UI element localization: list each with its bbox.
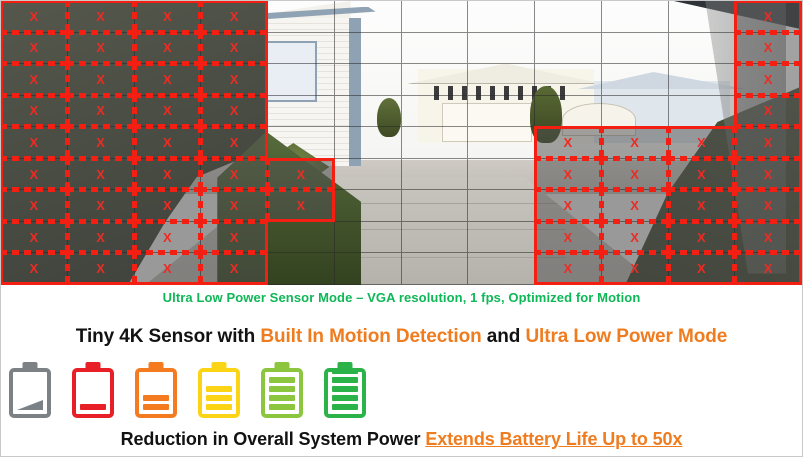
grid-cell-masked[interactable]: X — [535, 222, 602, 254]
mask-edge-l — [1, 189, 3, 222]
mask-edge-t — [67, 252, 135, 255]
mask-edge-l — [1, 126, 3, 159]
mask-edge-l — [534, 126, 537, 159]
mask-edge-t — [200, 126, 268, 129]
mask-edge-l — [734, 32, 737, 65]
grid-cell-masked[interactable]: X — [1, 96, 68, 128]
mask-edge-b — [601, 282, 669, 285]
grid-cell[interactable] — [402, 127, 469, 159]
mask-x-marker: X — [735, 64, 801, 95]
grid-cell-masked[interactable]: X — [602, 222, 669, 254]
grid-cell-masked[interactable]: X — [201, 222, 268, 254]
grid-cell-masked[interactable]: X — [602, 159, 669, 191]
battery-body — [324, 368, 366, 418]
mask-x-marker: X — [535, 253, 601, 284]
grid-cell-masked[interactable]: X — [1, 159, 68, 191]
mask-x-marker: X — [268, 159, 334, 190]
grid-cell[interactable] — [402, 96, 469, 128]
mask-x-marker: X — [68, 159, 134, 190]
headline-highlight-1: Built In Motion Detection — [260, 326, 481, 347]
grid-cell[interactable] — [468, 64, 535, 96]
grid-cell-masked[interactable]: X — [268, 190, 335, 222]
mask-edge-l — [1, 63, 3, 96]
mask-x-marker: X — [135, 253, 201, 284]
battery-medium-icon — [198, 362, 240, 418]
mask-edge-l — [134, 252, 137, 285]
battery-level-bar — [332, 377, 358, 383]
grid-cell-masked[interactable]: X — [135, 222, 202, 254]
mask-edge-t — [200, 1, 268, 3]
mask-edge-t — [1, 126, 68, 129]
mask-edge-l — [67, 63, 70, 96]
grid-cell-masked[interactable]: X — [669, 253, 736, 285]
battery-level-bar — [143, 395, 169, 401]
mask-x-marker: X — [735, 253, 801, 284]
mask-edge-l — [200, 126, 203, 159]
mask-x-marker: X — [735, 159, 801, 190]
mask-edge-l — [67, 126, 70, 159]
grid-cell[interactable] — [602, 1, 669, 33]
mask-edge-t — [601, 252, 669, 255]
mask-x-marker: X — [201, 253, 267, 284]
grid-cell-masked[interactable]: X — [135, 64, 202, 96]
battery-high-icon — [261, 362, 303, 418]
grid-cell-masked[interactable]: X — [735, 222, 802, 254]
grid-cell-masked[interactable]: X — [669, 159, 736, 191]
mask-edge-l — [668, 221, 671, 254]
mask-x-marker: X — [68, 190, 134, 221]
grid-cell[interactable] — [335, 159, 402, 191]
mask-edge-l — [134, 63, 137, 96]
mask-edge-b — [1, 282, 68, 285]
footer-statement: Reduction in Overall System Power Extend… — [1, 429, 802, 450]
mask-edge-l — [668, 252, 671, 285]
mask-x-marker: X — [201, 190, 267, 221]
mask-x-marker: X — [602, 127, 668, 158]
mask-edge-l — [734, 158, 737, 191]
grid-cell-masked[interactable]: X — [201, 253, 268, 285]
mask-x-marker: X — [735, 96, 801, 127]
mask-x-marker: X — [1, 222, 67, 253]
mask-x-marker: X — [1, 1, 67, 32]
grid-cell[interactable] — [602, 96, 669, 128]
mask-x-marker: X — [135, 159, 201, 190]
mask-edge-t — [67, 32, 135, 35]
mask-edge-t — [534, 158, 602, 161]
grid-cell-masked[interactable]: X — [68, 33, 135, 65]
grid-cell[interactable] — [335, 64, 402, 96]
mask-edge-t — [734, 32, 802, 35]
grid-cell-masked[interactable]: X — [68, 64, 135, 96]
grid-cell[interactable] — [468, 190, 535, 222]
battery-level-bar — [332, 404, 358, 410]
grid-cell[interactable] — [268, 253, 335, 285]
mask-edge-l — [67, 189, 70, 222]
grid-cell-masked[interactable]: X — [1, 253, 68, 285]
mask-edge-r — [799, 32, 802, 65]
mask-edge-l — [1, 221, 3, 254]
mask-x-marker: X — [735, 1, 801, 32]
mask-edge-t — [134, 158, 202, 161]
mask-edge-t — [1, 63, 68, 66]
grid-cell[interactable] — [335, 96, 402, 128]
grid-cell-masked[interactable]: X — [68, 1, 135, 33]
grid-cell-masked[interactable]: X — [1, 1, 68, 33]
battery-level-bar — [269, 377, 295, 383]
grid-cell[interactable] — [335, 190, 402, 222]
grid-cell[interactable] — [335, 1, 402, 33]
grid-cell-masked[interactable]: X — [68, 222, 135, 254]
mask-edge-l — [601, 252, 604, 285]
mask-x-marker: X — [68, 127, 134, 158]
battery-body — [9, 368, 51, 418]
grid-cell-masked[interactable]: X — [68, 159, 135, 191]
grid-cell-masked[interactable]: X — [201, 64, 268, 96]
mask-edge-t — [1, 32, 68, 35]
sensor-view: XXXXXXXXXXXXXXXXXXXXXXXXXXXXXXXXXXXXXXXX… — [1, 1, 802, 285]
grid-cell-masked[interactable]: X — [735, 1, 802, 33]
mask-edge-t — [668, 158, 736, 161]
battery-body — [198, 368, 240, 418]
grid-cell[interactable] — [468, 253, 535, 285]
mask-edge-t — [1, 1, 68, 3]
mask-edge-l — [1, 158, 3, 191]
grid-cell[interactable] — [468, 1, 535, 33]
grid-cell[interactable] — [402, 253, 469, 285]
grid-cell-masked[interactable]: X — [268, 159, 335, 191]
mask-edge-l — [668, 189, 671, 222]
mask-edge-l — [67, 252, 70, 285]
battery-empty-wedge — [17, 400, 43, 410]
grid-cell[interactable] — [335, 253, 402, 285]
grid-cell-masked[interactable]: X — [135, 190, 202, 222]
grid-cell-masked[interactable]: X — [201, 96, 268, 128]
mask-edge-r — [799, 63, 802, 96]
battery-low-icon — [135, 362, 177, 418]
mask-x-marker: X — [135, 222, 201, 253]
mask-edge-t — [668, 126, 736, 129]
mask-edge-t — [601, 221, 669, 224]
grid-cell[interactable] — [335, 33, 402, 65]
mask-edge-l — [734, 221, 737, 254]
slide-root: XXXXXXXXXXXXXXXXXXXXXXXXXXXXXXXXXXXXXXXX… — [0, 0, 803, 457]
mask-x-marker: X — [669, 190, 735, 221]
grid-cell-masked[interactable]: X — [135, 33, 202, 65]
grid-cell[interactable] — [335, 222, 402, 254]
mask-edge-l — [67, 158, 70, 191]
mask-edge-l — [134, 95, 137, 128]
mask-edge-l — [134, 1, 137, 33]
battery-level-bar — [80, 404, 106, 410]
mask-x-marker: X — [135, 96, 201, 127]
mask-edge-t — [134, 126, 202, 129]
mask-edge-r — [799, 95, 802, 128]
mask-x-marker: X — [135, 190, 201, 221]
grid-cell-masked[interactable]: X — [735, 190, 802, 222]
mask-x-marker: X — [68, 33, 134, 64]
grid-cell-masked[interactable]: X — [1, 64, 68, 96]
mask-edge-r — [799, 1, 802, 33]
mask-x-marker: X — [535, 190, 601, 221]
motion-detection-grid[interactable]: XXXXXXXXXXXXXXXXXXXXXXXXXXXXXXXXXXXXXXXX… — [1, 1, 802, 285]
mask-edge-l — [1, 252, 3, 285]
grid-cell[interactable] — [669, 1, 736, 33]
mask-edge-b — [734, 282, 802, 285]
battery-body — [72, 368, 114, 418]
mask-edge-l — [134, 189, 137, 222]
battery-level-bar — [332, 386, 358, 392]
mask-edge-l — [200, 158, 203, 191]
grid-cell-masked[interactable]: X — [68, 253, 135, 285]
grid-cell-masked[interactable]: X — [535, 253, 602, 285]
mask-edge-t — [200, 63, 268, 66]
grid-cell-masked[interactable]: X — [602, 127, 669, 159]
mask-edge-l — [200, 189, 203, 222]
grid-cell-masked[interactable]: X — [135, 159, 202, 191]
grid-cell-masked[interactable]: X — [535, 127, 602, 159]
mask-edge-t — [601, 126, 669, 129]
mask-edge-l — [67, 221, 70, 254]
mask-x-marker: X — [735, 127, 801, 158]
grid-cell-masked[interactable]: X — [669, 127, 736, 159]
mask-edge-l — [534, 221, 537, 254]
battery-level-bar — [143, 404, 169, 410]
battery-body — [261, 368, 303, 418]
grid-cell[interactable] — [468, 127, 535, 159]
mask-edge-l — [134, 32, 137, 65]
mask-edge-t — [668, 189, 736, 192]
battery-level-bar — [206, 395, 232, 401]
footline-highlight-1: Extends Battery Life Up to 50x — [425, 429, 682, 449]
mask-edge-l — [601, 221, 604, 254]
grid-cell[interactable] — [468, 222, 535, 254]
mask-x-marker: X — [602, 159, 668, 190]
battery-level-bar — [206, 404, 232, 410]
grid-cell-masked[interactable]: X — [669, 190, 736, 222]
mask-x-marker: X — [268, 190, 334, 221]
battery-level-row — [9, 359, 429, 421]
battery-critical-icon — [72, 362, 114, 418]
mask-edge-t — [267, 158, 335, 161]
grid-cell-masked[interactable]: X — [602, 190, 669, 222]
grid-cell-masked[interactable]: X — [201, 159, 268, 191]
mask-edge-t — [67, 1, 135, 3]
grid-cell-masked[interactable]: X — [535, 190, 602, 222]
grid-cell-masked[interactable]: X — [135, 1, 202, 33]
grid-cell-masked[interactable]: X — [535, 159, 602, 191]
grid-cell-masked[interactable]: X — [201, 190, 268, 222]
mask-x-marker: X — [1, 253, 67, 284]
grid-cell-masked[interactable]: X — [602, 253, 669, 285]
grid-cell[interactable] — [468, 96, 535, 128]
grid-cell[interactable] — [268, 33, 335, 65]
mask-edge-l — [67, 32, 70, 65]
mask-edge-t — [734, 126, 802, 129]
grid-cell[interactable] — [535, 1, 602, 33]
mask-edge-t — [67, 63, 135, 66]
mask-edge-t — [534, 252, 602, 255]
mask-edge-b — [67, 282, 135, 285]
grid-cell[interactable] — [402, 222, 469, 254]
mask-x-marker: X — [535, 222, 601, 253]
mask-edge-l — [134, 158, 137, 191]
mask-edge-t — [1, 95, 68, 98]
mask-x-marker: X — [201, 222, 267, 253]
grid-cell-masked[interactable]: X — [735, 64, 802, 96]
grid-cell[interactable] — [535, 33, 602, 65]
mask-edge-t — [601, 189, 669, 192]
mask-edge-l — [1, 32, 3, 65]
mask-edge-t — [534, 189, 602, 192]
grid-cell-masked[interactable]: X — [201, 127, 268, 159]
grid-cell-masked[interactable]: X — [135, 127, 202, 159]
mask-x-marker: X — [135, 33, 201, 64]
mask-edge-t — [67, 221, 135, 224]
mask-edge-l — [534, 158, 537, 191]
mask-edge-l — [267, 158, 270, 191]
mask-edge-t — [668, 252, 736, 255]
mask-edge-l — [1, 95, 3, 128]
mask-edge-l — [200, 32, 203, 65]
grid-cell[interactable] — [602, 33, 669, 65]
mask-edge-t — [134, 189, 202, 192]
grid-cell[interactable] — [402, 190, 469, 222]
mask-x-marker: X — [602, 190, 668, 221]
mask-edge-l — [734, 1, 737, 33]
grid-cell-masked[interactable]: X — [68, 127, 135, 159]
mask-edge-t — [200, 221, 268, 224]
grid-cell[interactable] — [268, 222, 335, 254]
mask-edge-l — [668, 126, 671, 159]
mask-edge-l — [601, 189, 604, 222]
mask-edge-t — [67, 95, 135, 98]
grid-cell-masked[interactable]: X — [1, 33, 68, 65]
battery-empty-icon — [9, 362, 51, 418]
mask-x-marker: X — [535, 159, 601, 190]
mask-edge-l — [67, 1, 70, 33]
grid-cell[interactable] — [535, 96, 602, 128]
mask-x-marker: X — [1, 96, 67, 127]
grid-cell-masked[interactable]: X — [1, 127, 68, 159]
mask-edge-l — [200, 252, 203, 285]
grid-cell-masked[interactable]: X — [68, 96, 135, 128]
battery-full-icon — [324, 362, 366, 418]
mask-edge-l — [200, 1, 203, 33]
grid-cell-masked[interactable]: X — [201, 1, 268, 33]
mask-edge-l — [734, 126, 737, 159]
page-title: Tiny 4K Sensor with Built In Motion Dete… — [1, 326, 802, 348]
grid-cell-masked[interactable]: X — [735, 96, 802, 128]
mask-edge-t — [734, 189, 802, 192]
mask-edge-t — [200, 158, 268, 161]
grid-cell-masked[interactable]: X — [735, 159, 802, 191]
mask-edge-l — [67, 95, 70, 128]
grid-cell[interactable] — [602, 64, 669, 96]
mask-edge-t — [734, 1, 802, 3]
mask-x-marker: X — [201, 64, 267, 95]
mask-x-marker: X — [669, 253, 735, 284]
grid-cell[interactable] — [535, 64, 602, 96]
mask-x-marker: X — [68, 253, 134, 284]
grid-cell[interactable] — [268, 96, 335, 128]
grid-cell-masked[interactable]: X — [735, 253, 802, 285]
grid-cell[interactable] — [669, 64, 736, 96]
grid-cell-masked[interactable]: X — [735, 33, 802, 65]
grid-cell-masked[interactable]: X — [669, 222, 736, 254]
mask-edge-l — [734, 95, 737, 128]
grid-cell[interactable] — [402, 33, 469, 65]
grid-cell-masked[interactable]: X — [135, 253, 202, 285]
mask-edge-t — [267, 189, 335, 192]
battery-level-bar — [269, 395, 295, 401]
mask-x-marker: X — [602, 222, 668, 253]
mask-edge-l — [534, 252, 537, 285]
mask-edge-r — [799, 252, 802, 285]
mask-edge-l — [534, 189, 537, 222]
battery-level-bar — [269, 404, 295, 410]
mask-edge-t — [734, 221, 802, 224]
grid-cell-masked[interactable]: X — [1, 190, 68, 222]
mask-edge-l — [134, 126, 137, 159]
grid-cell[interactable] — [402, 159, 469, 191]
grid-cell[interactable] — [669, 33, 736, 65]
sensor-mode-caption: Ultra Low Power Sensor Mode – VGA resolu… — [1, 290, 802, 305]
mask-edge-r — [799, 158, 802, 191]
mask-edge-l — [267, 189, 270, 222]
mask-x-marker: X — [735, 222, 801, 253]
grid-cell[interactable] — [402, 1, 469, 33]
mask-x-marker: X — [135, 64, 201, 95]
mask-edge-t — [1, 158, 68, 161]
mask-x-marker: X — [1, 33, 67, 64]
mask-x-marker: X — [201, 159, 267, 190]
grid-cell[interactable] — [468, 33, 535, 65]
mask-x-marker: X — [1, 127, 67, 158]
mask-edge-t — [668, 221, 736, 224]
mask-edge-t — [67, 158, 135, 161]
grid-cell[interactable] — [669, 96, 736, 128]
grid-cell-masked[interactable]: X — [201, 33, 268, 65]
grid-cell-masked[interactable]: X — [135, 96, 202, 128]
mask-edge-t — [1, 189, 68, 192]
battery-body — [135, 368, 177, 418]
grid-cell[interactable] — [335, 127, 402, 159]
mask-edge-t — [734, 252, 802, 255]
grid-cell-masked[interactable]: X — [735, 127, 802, 159]
mask-edge-t — [134, 1, 202, 3]
grid-cell[interactable] — [268, 127, 335, 159]
grid-cell[interactable] — [268, 64, 335, 96]
mask-edge-l — [200, 95, 203, 128]
battery-level-bar — [206, 386, 232, 392]
grid-cell[interactable] — [268, 1, 335, 33]
mask-x-marker: X — [735, 190, 801, 221]
mask-edge-t — [734, 95, 802, 98]
mask-edge-t — [734, 158, 802, 161]
mask-x-marker: X — [68, 222, 134, 253]
mask-edge-l — [200, 221, 203, 254]
grid-cell[interactable] — [402, 64, 469, 96]
mask-edge-l — [734, 63, 737, 96]
headline-highlight-2: Ultra Low Power Mode — [525, 326, 727, 347]
battery-level-bar — [269, 386, 295, 392]
grid-cell-masked[interactable]: X — [1, 222, 68, 254]
mask-edge-t — [67, 189, 135, 192]
mask-edge-l — [668, 158, 671, 191]
grid-cell-masked[interactable]: X — [68, 190, 135, 222]
mask-edge-b — [534, 282, 602, 285]
grid-cell[interactable] — [468, 159, 535, 191]
